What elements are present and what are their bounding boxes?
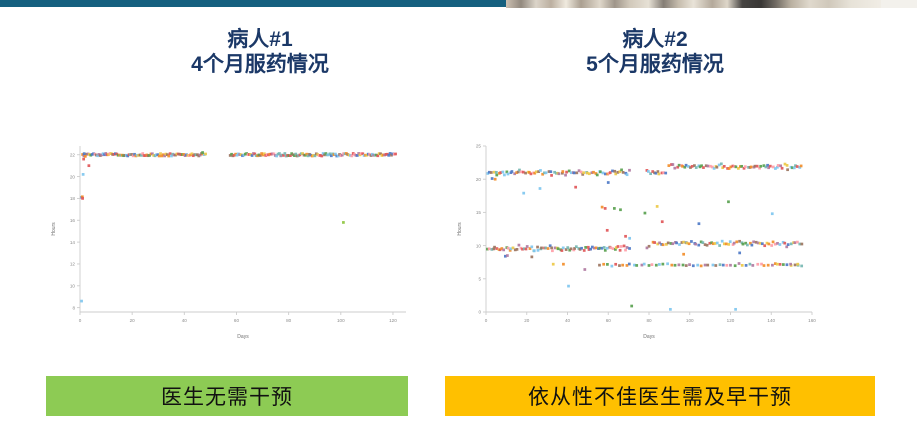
svg-text:16: 16 [70,218,76,223]
svg-text:0: 0 [485,318,488,323]
slide-canvas: 病人#1 4个月服药情况 病人#2 5个月服药情况 02040608010012… [0,0,917,443]
svg-text:Hours: Hours [457,222,463,236]
svg-text:25: 25 [476,144,482,149]
svg-text:18: 18 [70,196,76,201]
teal-accent-bar [0,0,506,7]
patient-2-chart-svg: 0204060801001201401600510152025DaysHours [452,132,822,342]
svg-text:60: 60 [606,318,612,323]
svg-text:10: 10 [476,243,482,248]
svg-text:100: 100 [686,318,694,323]
svg-text:40: 40 [182,318,188,323]
patient-2-scatter-chart: 0204060801001201401600510152025DaysHours [452,132,822,342]
svg-text:20: 20 [524,318,530,323]
svg-text:120: 120 [389,318,397,323]
svg-text:160: 160 [808,318,816,323]
svg-text:40: 40 [565,318,571,323]
svg-text:12: 12 [70,262,76,267]
svg-text:Hours: Hours [51,222,57,236]
patient-1-scatter-chart: 020406080100120810121416182022DaysHours [46,132,416,342]
svg-text:8: 8 [72,305,75,310]
svg-text:0: 0 [478,310,481,315]
svg-text:60: 60 [234,318,240,323]
conclusion-banner-left-label: 医生无需干预 [161,381,293,411]
svg-text:140: 140 [767,318,775,323]
svg-text:20: 20 [70,174,76,179]
residual-top-strip [0,0,917,9]
svg-text:100: 100 [337,318,345,323]
svg-text:15: 15 [476,210,482,215]
photo-strip-remnant [506,0,881,8]
svg-text:80: 80 [286,318,292,323]
svg-text:Days: Days [643,334,655,340]
conclusion-banner-right-label: 依从性不佳医生需及早干预 [528,381,792,411]
svg-text:80: 80 [646,318,652,323]
svg-text:120: 120 [727,318,735,323]
svg-text:10: 10 [70,283,76,288]
conclusion-banner-left: 医生无需干预 [46,376,408,416]
patient-1-chart-svg: 020406080100120810121416182022DaysHours [46,132,416,342]
patient-2-title: 病人#2 5个月服药情况 [505,27,805,77]
patient-1-title: 病人#1 4个月服药情况 [120,27,400,77]
svg-text:20: 20 [130,318,136,323]
svg-text:22: 22 [70,152,76,157]
photo-strip-fade [881,0,917,8]
svg-text:Days: Days [237,334,249,340]
svg-text:14: 14 [70,240,76,245]
svg-text:20: 20 [476,177,482,182]
svg-text:0: 0 [79,318,82,323]
conclusion-banner-right: 依从性不佳医生需及早干预 [445,376,875,416]
svg-text:5: 5 [478,277,481,282]
